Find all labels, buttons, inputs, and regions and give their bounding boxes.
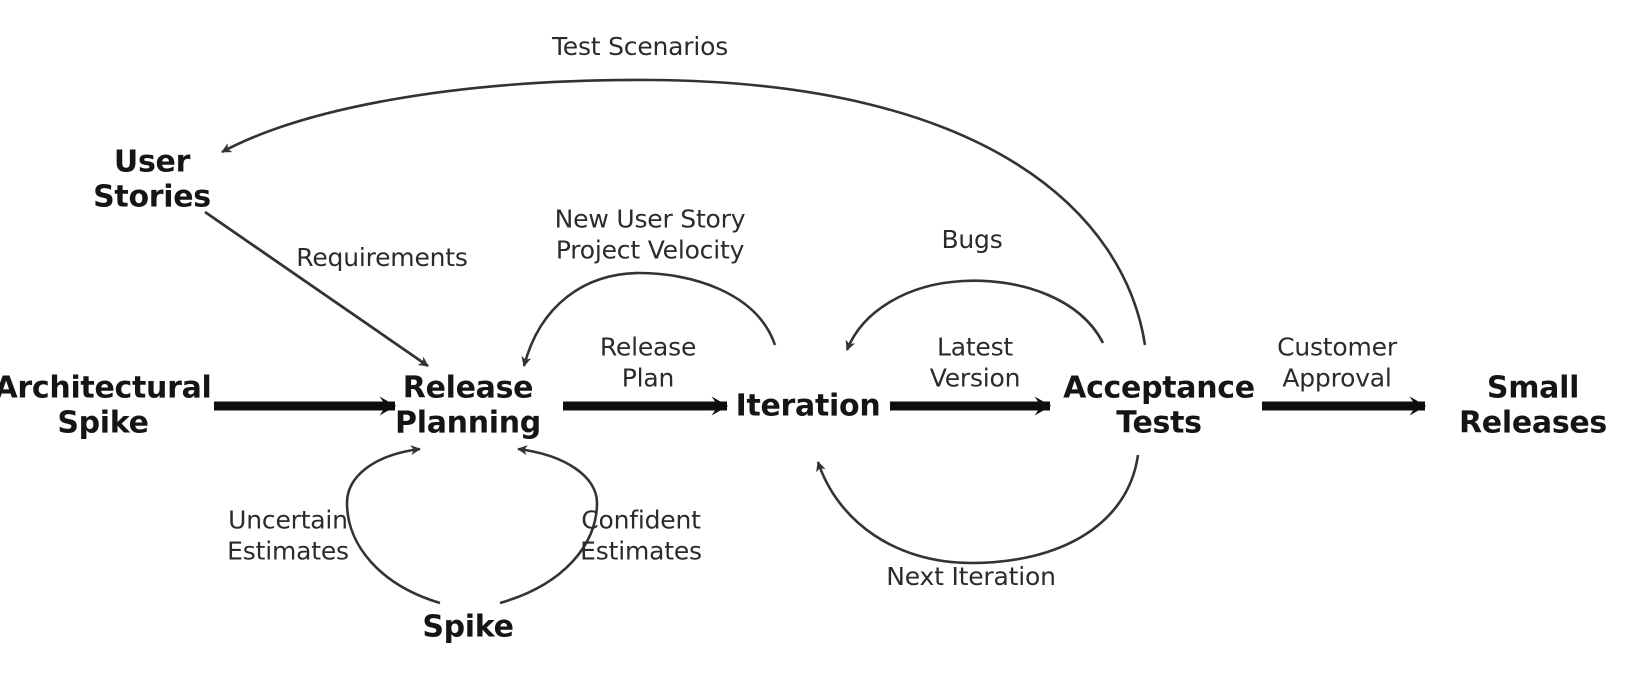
node-architectural-spike[interactable]: Architectural Spike <box>0 371 212 442</box>
xp-process-diagram: Architectural Spike User Stories Release… <box>0 0 1638 684</box>
edge-uncertain-estimates-path <box>347 449 440 603</box>
node-small-releases[interactable]: Small Releases <box>1459 371 1607 442</box>
edge-next-iteration-path <box>818 455 1138 563</box>
edge-label-test-scenarios: Test Scenarios <box>552 32 728 63</box>
node-user-stories[interactable]: User Stories <box>93 145 211 216</box>
node-acceptance-tests[interactable]: Acceptance Tests <box>1063 371 1255 442</box>
node-spike[interactable]: Spike <box>422 609 513 644</box>
edge-label-customer-approval: Customer Approval <box>1277 333 1397 394</box>
node-release-planning[interactable]: Release Planning <box>395 371 541 442</box>
edge-label-release-plan: Release Plan <box>600 333 696 394</box>
edge-label-latest-version: Latest Version <box>930 333 1021 394</box>
node-iteration[interactable]: Iteration <box>736 388 881 423</box>
edge-label-requirements: Requirements <box>296 243 467 274</box>
edge-requirements-path <box>205 212 428 366</box>
edge-label-bugs: Bugs <box>941 225 1002 256</box>
edge-label-uncertain-estimates: Uncertain Estimates <box>227 506 349 567</box>
edge-label-confident-estimates: Confident Estimates <box>580 506 702 567</box>
edge-label-new-user-story-project-velocity: New User Story Project Velocity <box>555 205 746 266</box>
edge-label-next-iteration: Next Iteration <box>886 562 1055 593</box>
